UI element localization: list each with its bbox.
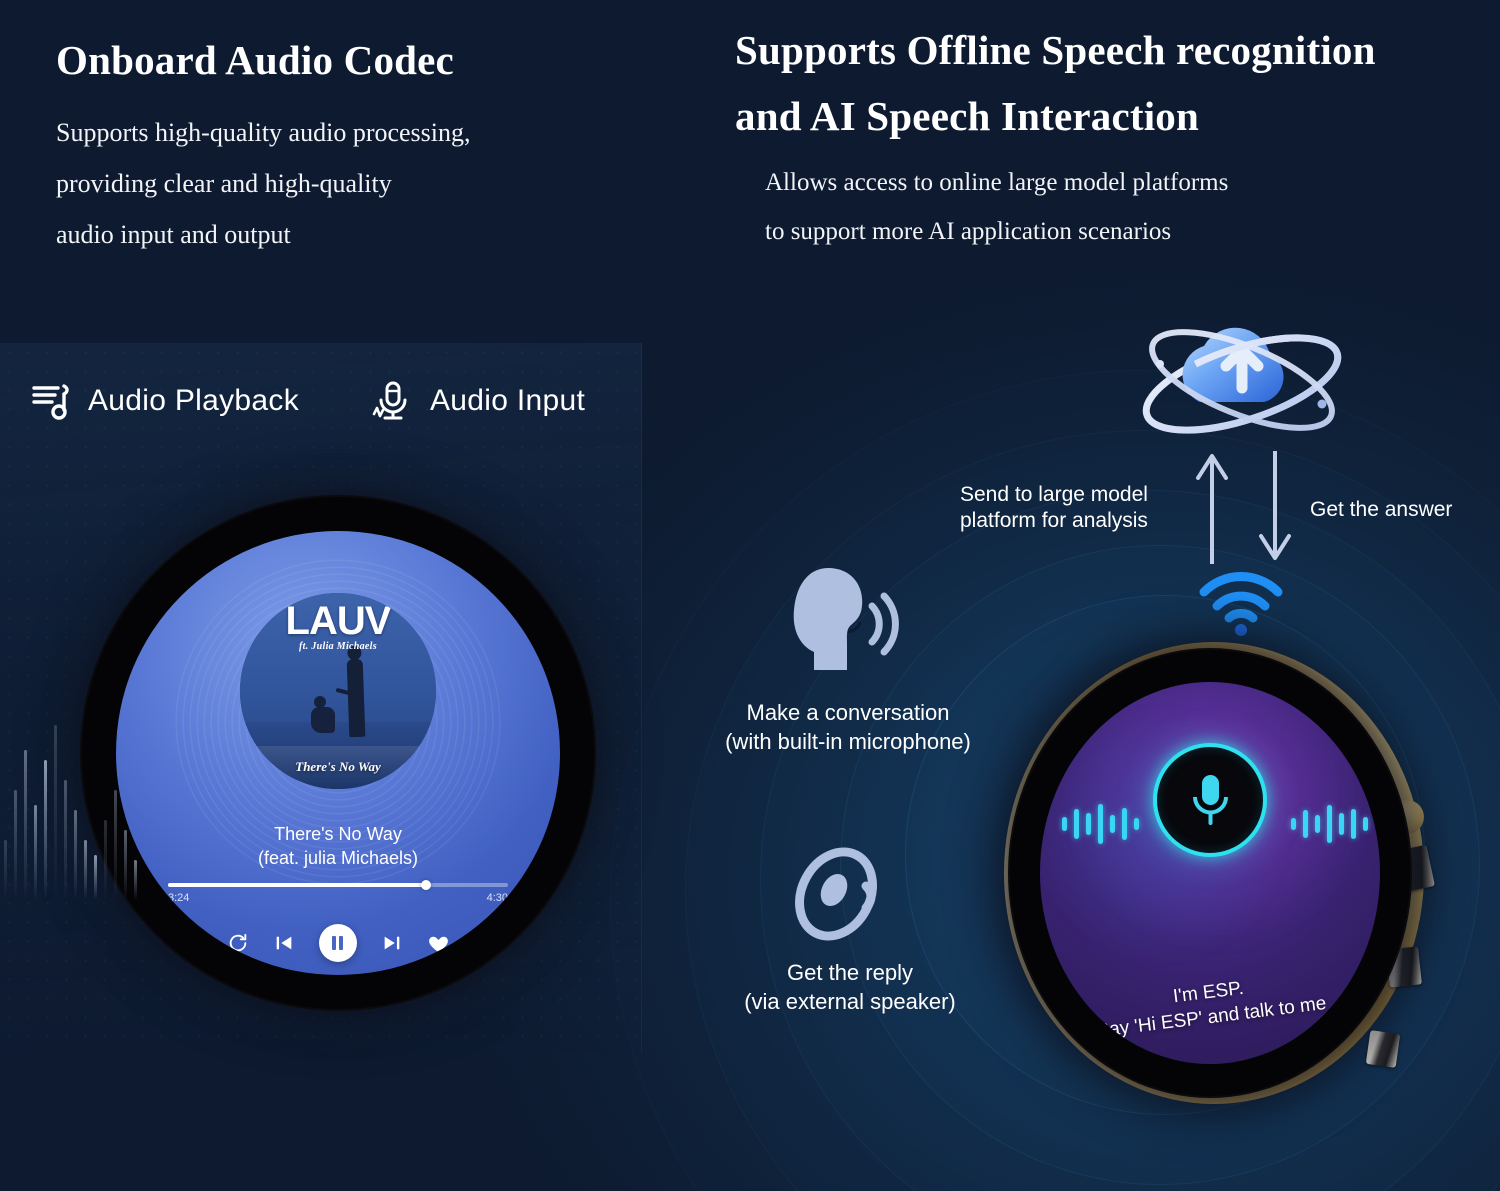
right-title-line-2: and AI Speech Interaction bbox=[735, 93, 1199, 139]
now-playing-subtitle: (feat. julia Michaels) bbox=[116, 847, 560, 871]
music-note-list-icon bbox=[28, 378, 74, 424]
reply-label-line-1: Get the reply bbox=[787, 960, 913, 985]
right-title: Supports Offline Speech recognition and … bbox=[735, 18, 1455, 149]
feature-audio-input: Audio Input bbox=[370, 378, 585, 424]
album-logo-text: LAUV bbox=[286, 602, 391, 640]
previous-track-button[interactable] bbox=[273, 932, 295, 954]
arrow-down-answer bbox=[1255, 450, 1295, 565]
microphone-icon bbox=[370, 378, 416, 424]
send-to-model-label: Send to large model platform for analysi… bbox=[960, 482, 1190, 535]
right-column-header: Supports Offline Speech recognition and … bbox=[735, 18, 1455, 257]
album-art-figure-sitting bbox=[311, 707, 335, 733]
get-answer-label: Get the answer bbox=[1310, 496, 1500, 524]
now-playing: There's No Way (feat. julia Michaels) bbox=[116, 823, 560, 871]
voice-assistant-screen: I'm ESP. Say 'Hi ESP' and talk to me bbox=[1040, 682, 1380, 1064]
album-feat-text: ft. Julia Michaels bbox=[286, 641, 391, 652]
watch-side-button-bottom[interactable] bbox=[1366, 1030, 1400, 1068]
feature-audio-playback: Audio Playback bbox=[28, 378, 299, 424]
right-smartwatch: I'm ESP. Say 'Hi ESP' and talk to me bbox=[1008, 648, 1412, 1098]
waveform-decoration bbox=[0, 700, 140, 900]
album-art: LAUV ft. Julia Michaels There's No Way bbox=[240, 593, 436, 789]
left-subtitle-line-2: providing clear and high-quality bbox=[56, 169, 392, 198]
total-time: 4:30 bbox=[487, 892, 508, 904]
album-logo: LAUV ft. Julia Michaels bbox=[286, 602, 391, 652]
left-column-header: Onboard Audio Codec Supports high-qualit… bbox=[56, 34, 696, 261]
speaking-head-icon bbox=[778, 560, 908, 680]
left-smartwatch: LAUV ft. Julia Michaels There's No Way T… bbox=[80, 495, 596, 1011]
next-track-button[interactable] bbox=[381, 932, 403, 954]
get-reply-label: Get the reply (via external speaker) bbox=[690, 958, 1010, 1016]
assistant-mic-button[interactable] bbox=[1153, 743, 1267, 857]
reply-label-line-2: (via external speaker) bbox=[744, 989, 956, 1014]
player-controls bbox=[116, 924, 560, 962]
poster-canvas: Onboard Audio Codec Supports high-qualit… bbox=[0, 0, 1500, 1191]
repeat-button[interactable] bbox=[227, 932, 249, 954]
left-subtitle-line-1: Supports high-quality audio processing, bbox=[56, 118, 471, 147]
arrow-up-send bbox=[1192, 450, 1232, 565]
progress-track[interactable] bbox=[168, 883, 508, 887]
left-title: Onboard Audio Codec bbox=[56, 34, 696, 86]
pause-button[interactable] bbox=[319, 924, 357, 962]
right-title-line-1: Supports Offline Speech recognition bbox=[735, 27, 1376, 73]
progress-fill bbox=[168, 883, 426, 887]
elapsed-time: 3:24 bbox=[168, 892, 189, 904]
progress-area[interactable]: 3:24 4:30 bbox=[168, 883, 508, 904]
favorite-button[interactable] bbox=[427, 932, 450, 955]
album-art-figure-standing bbox=[346, 659, 365, 738]
waveform-left bbox=[1062, 793, 1139, 855]
conversation-label-line-1: Make a conversation bbox=[747, 700, 950, 725]
make-conversation-label: Make a conversation (with built-in micro… bbox=[688, 698, 1008, 756]
music-player-screen: LAUV ft. Julia Michaels There's No Way T… bbox=[116, 531, 560, 975]
send-label-line-1: Send to large model bbox=[960, 483, 1148, 506]
feature-label: Audio Input bbox=[430, 384, 585, 418]
conversation-label-line-2: (with built-in microphone) bbox=[725, 729, 971, 754]
assistant-prompt: I'm ESP. Say 'Hi ESP' and talk to me bbox=[1092, 967, 1327, 1044]
progress-knob[interactable] bbox=[421, 880, 431, 890]
album-track-caption: There's No Way bbox=[295, 759, 380, 775]
send-label-line-2: platform for analysis bbox=[960, 509, 1148, 532]
feature-label: Audio Playback bbox=[88, 384, 299, 418]
now-playing-title: There's No Way bbox=[116, 823, 560, 847]
right-subtitle-line-1: Allows access to online large model plat… bbox=[765, 169, 1228, 196]
wifi-icon bbox=[1196, 572, 1286, 638]
speaker-icon bbox=[786, 838, 896, 948]
right-subtitle-line-2: to support more AI application scenarios bbox=[765, 218, 1171, 245]
cloud-upload-orbit-icon bbox=[1122, 292, 1362, 472]
left-subtitle-line-3: audio input and output bbox=[56, 220, 291, 249]
waveform-right bbox=[1291, 793, 1368, 855]
microphone-icon bbox=[1186, 769, 1234, 832]
